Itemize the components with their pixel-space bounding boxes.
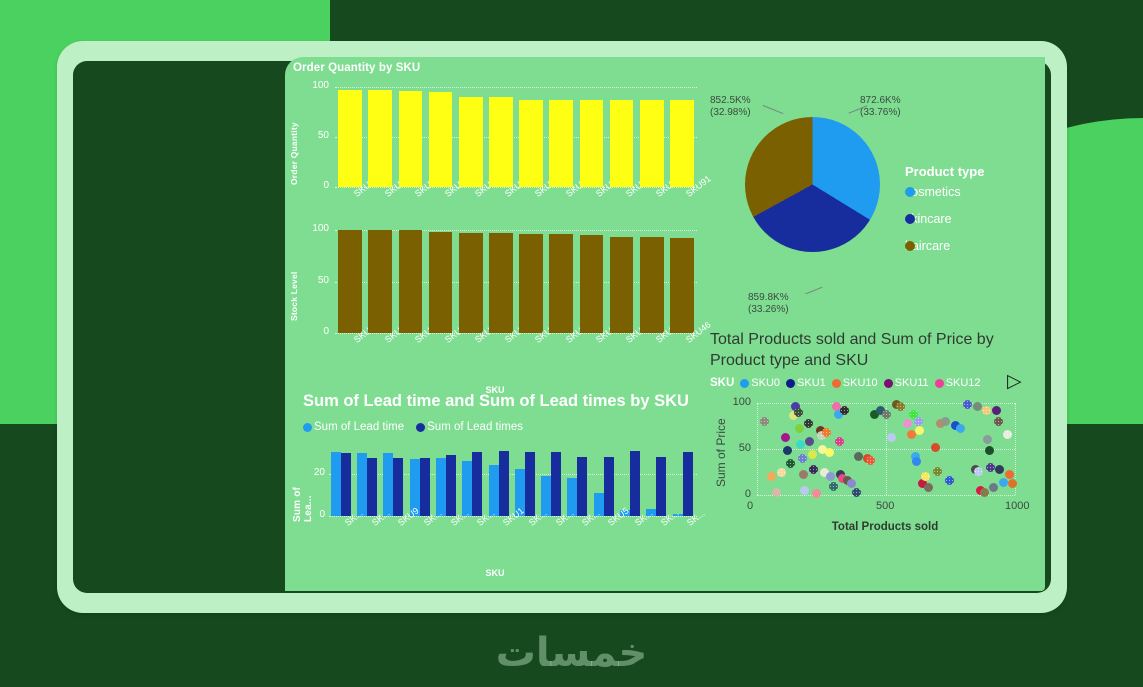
bar[interactable] [519,100,543,187]
chart-title: Total Products sold and Sum of Price by … [710,329,1030,371]
scatter-point[interactable] [767,472,776,481]
x-axis-tick: 0 [747,500,753,512]
scatter-point[interactable] [799,470,808,479]
bar[interactable] [551,452,561,516]
legend-swatch [905,214,915,224]
watermark: خمسات [0,630,1143,676]
bar[interactable] [525,452,535,516]
x-axis-title: Total Products sold [780,521,990,533]
legend-item[interactable]: SKU1 [786,377,826,389]
scatter-point[interactable] [852,488,861,497]
chart-legend[interactable]: Sum of Lead timeSum of Lead times [303,421,532,433]
pie-label-pct: (33.76%) [860,107,901,118]
legend-item[interactable]: SKU11 [884,377,929,389]
scatter-point[interactable] [1003,430,1012,439]
scatter-point[interactable] [999,478,1008,487]
chart-products-sold-vs-price-scatter[interactable]: Total Products sold and Sum of Price by … [710,325,1045,591]
scatter-point[interactable] [903,419,912,428]
scatter-point[interactable] [783,446,792,455]
plot-area: 05001000100500 [757,403,1015,495]
bar[interactable] [604,457,614,517]
bar[interactable] [338,90,362,187]
y-axis-tick: 0 [307,326,329,337]
bar[interactable] [368,90,392,187]
legend-swatch [905,187,915,197]
scatter-point[interactable] [915,426,924,435]
pie-label-pct: (33.26%) [748,304,789,315]
bar[interactable] [519,234,543,333]
legend-swatch [303,423,312,432]
legend-label: SKU12 [946,377,981,389]
pie-disc [745,117,880,252]
y-axis-title: Stock Level [289,243,299,321]
scatter-point[interactable] [781,433,790,442]
x-axis-tick: 500 [876,500,894,512]
bar[interactable] [630,451,640,516]
bar[interactable] [368,230,392,333]
plot-area: 200SK...SK...SKU9SK...SK...SK...SKU1SK..… [329,448,697,516]
scatter-point[interactable] [896,402,905,411]
scatter-point[interactable] [835,437,844,446]
scatter-point[interactable] [994,417,1003,426]
y-axis-tick: 20 [303,467,325,478]
scatter-point[interactable] [840,406,849,415]
x-axis-title: SKU [445,568,545,578]
legend-swatch [740,379,749,388]
y-axis-tick: 0 [303,509,325,520]
scatter-point[interactable] [887,433,896,442]
scatter-point[interactable] [822,428,831,437]
pie-label-value: 859.8K% [748,292,789,303]
scatter-point[interactable] [1005,470,1014,479]
gridline [757,495,1015,496]
scatter-point[interactable] [847,479,856,488]
scatter-point[interactable] [854,452,863,461]
x-axis-tick: 1000 [1005,500,1029,512]
plot-area: 100500SKU12SKU51SKU59SKU91SKU49SKU55SKU5… [335,230,697,333]
legend-swatch [416,423,425,432]
legend-swatch [786,379,795,388]
y-axis-tick: 0 [725,488,751,500]
bar[interactable] [341,453,351,516]
scatter-point[interactable] [982,406,991,415]
bar[interactable] [610,237,634,333]
bar[interactable] [338,230,362,333]
bar[interactable] [420,458,430,516]
legend-label: SKU10 [843,377,878,389]
scatter-point[interactable] [974,467,983,476]
scatter-point[interactable] [805,437,814,446]
scatter-point[interactable] [933,467,942,476]
bar[interactable] [577,457,587,517]
scatter-point[interactable] [777,468,786,477]
scatter-point[interactable] [912,457,921,466]
gridline [335,87,697,88]
bar[interactable] [640,100,664,187]
chart-order-quantity-by-sku[interactable]: Order Quantity by SKU Order Quantity 100… [285,57,705,217]
y-axis-tick: 50 [725,442,751,454]
scatter-point[interactable] [825,448,834,457]
legend-swatch [935,379,944,388]
y-axis-tick: 0 [307,180,329,191]
y-axis-title: Order Quantity [289,99,299,185]
legend-item[interactable]: skincare [905,212,961,226]
gridline [757,449,1015,450]
pie-label-skincare: 859.8K% (33.26%) [748,292,789,316]
y-axis-tick: 100 [307,80,329,91]
scatter-point[interactable] [826,472,835,481]
scatter-point[interactable] [956,424,965,433]
chart-lead-time-by-sku[interactable]: Sum of Lead time and Sum of Lead times b… [285,390,705,590]
scatter-point[interactable] [796,440,805,449]
y-axis-tick: 100 [307,223,329,234]
bar[interactable] [670,100,694,187]
scatter-point[interactable] [983,435,992,444]
scatter-point[interactable] [786,459,795,468]
chart-title: Order Quantity by SKU [293,62,420,74]
chart-product-type-pie[interactable]: 852.5K% (32.98%) 872.6K% (33.76%) 859.8K… [710,87,1045,327]
scatter-point[interactable] [941,417,950,426]
legend-label: SKU1 [797,377,826,389]
bar[interactable] [331,452,341,516]
legend-item[interactable]: Sum of Lead time [303,421,404,433]
legend-label: Sum of Lead times [427,421,523,433]
bar[interactable] [459,233,483,333]
bar[interactable] [459,97,483,187]
scatter-point[interactable] [794,408,803,417]
scatter-point[interactable] [914,417,923,426]
legend-swatch [905,241,915,251]
legend-swatch [884,379,893,388]
legend-item[interactable]: haircare [905,239,961,253]
scatter-point[interactable] [804,419,813,428]
scatter-point[interactable] [812,489,821,498]
y-axis-tick: 100 [725,396,751,408]
pie-label-value: 852.5K% [710,95,751,106]
bar[interactable] [489,233,513,333]
pie-label-haircare: 852.5K% (32.98%) [710,95,751,119]
scatter-point[interactable] [829,482,838,491]
y-axis-tick: 50 [307,275,329,286]
scatter-point[interactable] [772,488,781,497]
scatter-point[interactable] [760,417,769,426]
y-axis-tick: 50 [307,130,329,141]
scatter-point[interactable] [973,402,982,411]
bar[interactable] [549,234,573,333]
bar[interactable] [367,458,377,516]
bar[interactable] [610,100,634,187]
scatter-point[interactable] [795,424,804,433]
bar[interactable] [549,100,573,187]
scatter-point[interactable] [808,450,817,459]
legend-item[interactable]: SKU10 [832,377,878,389]
pie-legend[interactable]: cosmeticsskincarehaircare [905,185,961,266]
scatter-point[interactable] [986,463,995,472]
legend-label: SKU0 [751,377,780,389]
bar[interactable] [656,457,666,517]
bar[interactable] [393,458,403,516]
legend-label: Sum of Lead time [314,421,404,433]
leader-line [763,105,784,114]
scatter-point[interactable] [800,486,809,495]
bar[interactable] [499,451,509,516]
scatter-point[interactable] [798,454,807,463]
scatter-point[interactable] [945,476,954,485]
bar[interactable] [683,452,693,516]
legend-item[interactable]: cosmetics [905,185,961,199]
plot-area: 100500SKU0SKU90SKU33SKU19SKU2SKU38SKU12S… [335,87,697,187]
bar[interactable] [429,232,453,333]
scatter-point[interactable] [921,472,930,481]
legend-title: Product type [905,164,984,179]
pie-label-cosmetics: 872.6K% (33.76%) [860,95,901,119]
bar[interactable] [640,237,664,333]
scatter-point[interactable] [931,443,940,452]
legend-header: SKU [710,377,734,389]
report-canvas: Order Quantity by SKU Order Quantity 100… [285,57,1045,591]
bar[interactable] [670,238,694,333]
bar[interactable] [357,453,367,516]
bar[interactable] [399,230,423,333]
leader-line [805,287,822,295]
scatter-point[interactable] [924,483,933,492]
scatter-point[interactable] [992,406,1001,415]
chart-title: Sum of Lead time and Sum of Lead times b… [303,392,689,411]
scatter-point[interactable] [980,488,989,497]
legend-item[interactable]: SKU12 [935,377,981,389]
bar[interactable] [399,91,423,187]
chart-stock-level-by-sku[interactable]: Stock Level 100500SKU12SKU51SKU59SKU91SK… [285,225,705,400]
scatter-point[interactable] [985,446,994,455]
scatter-point[interactable] [809,465,818,474]
scatter-point[interactable] [995,465,1004,474]
bar[interactable] [429,92,453,187]
next-page-icon[interactable]: ▷ [1007,373,1023,391]
bar[interactable] [446,455,456,516]
bar[interactable] [489,97,513,187]
bar[interactable] [580,100,604,187]
scatter-point[interactable] [963,400,972,409]
scatter-point[interactable] [989,483,998,492]
legend-swatch [832,379,841,388]
pie-label-pct: (32.98%) [710,107,751,118]
scatter-point[interactable] [866,456,875,465]
scatter-legend[interactable]: SKU SKU0SKU1SKU10SKU11SKU12 [710,377,987,389]
bar[interactable] [472,452,482,516]
bar[interactable] [580,235,604,333]
legend-item[interactable]: SKU0 [740,377,780,389]
legend-label: SKU11 [895,377,929,389]
scatter-point[interactable] [882,410,891,419]
legend-item[interactable]: Sum of Lead times [416,421,523,433]
